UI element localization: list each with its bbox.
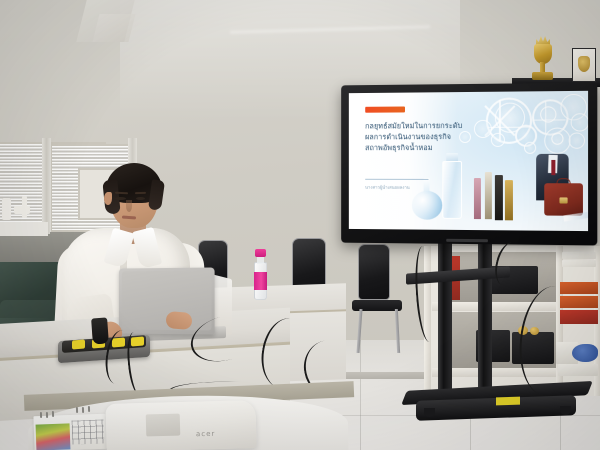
ceiling-fixture-secondary (93, 14, 136, 42)
display-brand-bar (447, 239, 488, 242)
gear-spoke (533, 119, 565, 121)
caster-wheel (560, 406, 571, 415)
person-nose (126, 200, 132, 212)
gear-spoke (545, 101, 546, 133)
gear-icon (524, 141, 536, 153)
tv-stand-column-left (438, 238, 452, 400)
display-screen[interactable]: กลยุทธ์สมัยใหม่ในการยกระดับ ผลการดำเนินง… (349, 91, 588, 231)
calendar-month-grid (72, 419, 105, 444)
water-bottle-cap[interactable] (255, 249, 266, 257)
slide-title: กลยุทธ์สมัยใหม่ในการยกระดับ ผลการดำเนินง… (365, 119, 488, 153)
slide-title-line-2: ผลการดำเนินงานของธุรกิจ (365, 131, 488, 143)
far-workstation-desk (0, 222, 48, 236)
slide-title-line-1: กลยุทธ์สมัยใหม่ในการยกระดับ (365, 119, 488, 131)
calendar-ring (76, 407, 78, 413)
far-desk-object (2, 198, 11, 220)
slide-accent-bar (365, 106, 405, 112)
gear-icon (571, 113, 588, 131)
lipstick (505, 180, 513, 220)
gear-icon (490, 133, 504, 147)
person-right-hand (165, 311, 192, 330)
calendar-ring (88, 406, 90, 412)
far-desk-object (22, 196, 27, 218)
power-outlet[interactable] (72, 340, 85, 350)
white-stacked-item (562, 252, 596, 259)
slide-text-backdrop (349, 92, 457, 230)
cart-warning-sticker (496, 397, 520, 406)
gold-trophy (534, 44, 552, 64)
calendar-ring (46, 412, 48, 418)
gear-icon (568, 133, 584, 149)
power-plug[interactable] (91, 317, 109, 344)
wall-display[interactable]: กลยุทธ์สมัยใหม่ในการยกระดับ ผลการดำเนินง… (341, 83, 597, 246)
presentation-slide: กลยุทธ์สมัยใหม่ในการยกระดับ ผลการดำเนินง… (349, 91, 588, 231)
projector[interactable] (105, 400, 256, 450)
slide-divider (365, 179, 428, 180)
briefcase-clasp (560, 197, 567, 203)
water-bottle-label (254, 272, 267, 290)
slide-subtitle: นางสาวผู้นำเสนอผลงาน (365, 186, 450, 193)
calendar-photo (36, 423, 71, 450)
projector-vent (146, 414, 181, 437)
lipstick (484, 172, 492, 219)
tv-stand-column-right (478, 238, 492, 400)
projector-brand-label: acer (196, 430, 216, 439)
trophy-base (532, 72, 553, 80)
lipstick (495, 175, 503, 221)
suit-tie (552, 160, 556, 175)
slide-title-line-3: สถาพอัพธุรกิจน้ำหอม (365, 142, 488, 153)
white-stacked-item (562, 260, 596, 267)
person-ear (104, 192, 112, 205)
black-chair-backrest[interactable] (358, 244, 390, 300)
calendar-ring (52, 411, 54, 417)
plaque-emblem (578, 56, 590, 72)
calendar-ring (82, 407, 84, 413)
meeting-room-photo: กลยุทธ์สมัยใหม่ในการยกระดับ ผลการดำเนินง… (0, 0, 600, 450)
caster-wheel (424, 408, 435, 417)
lipstick (474, 178, 482, 219)
calendar-ring (40, 412, 42, 418)
